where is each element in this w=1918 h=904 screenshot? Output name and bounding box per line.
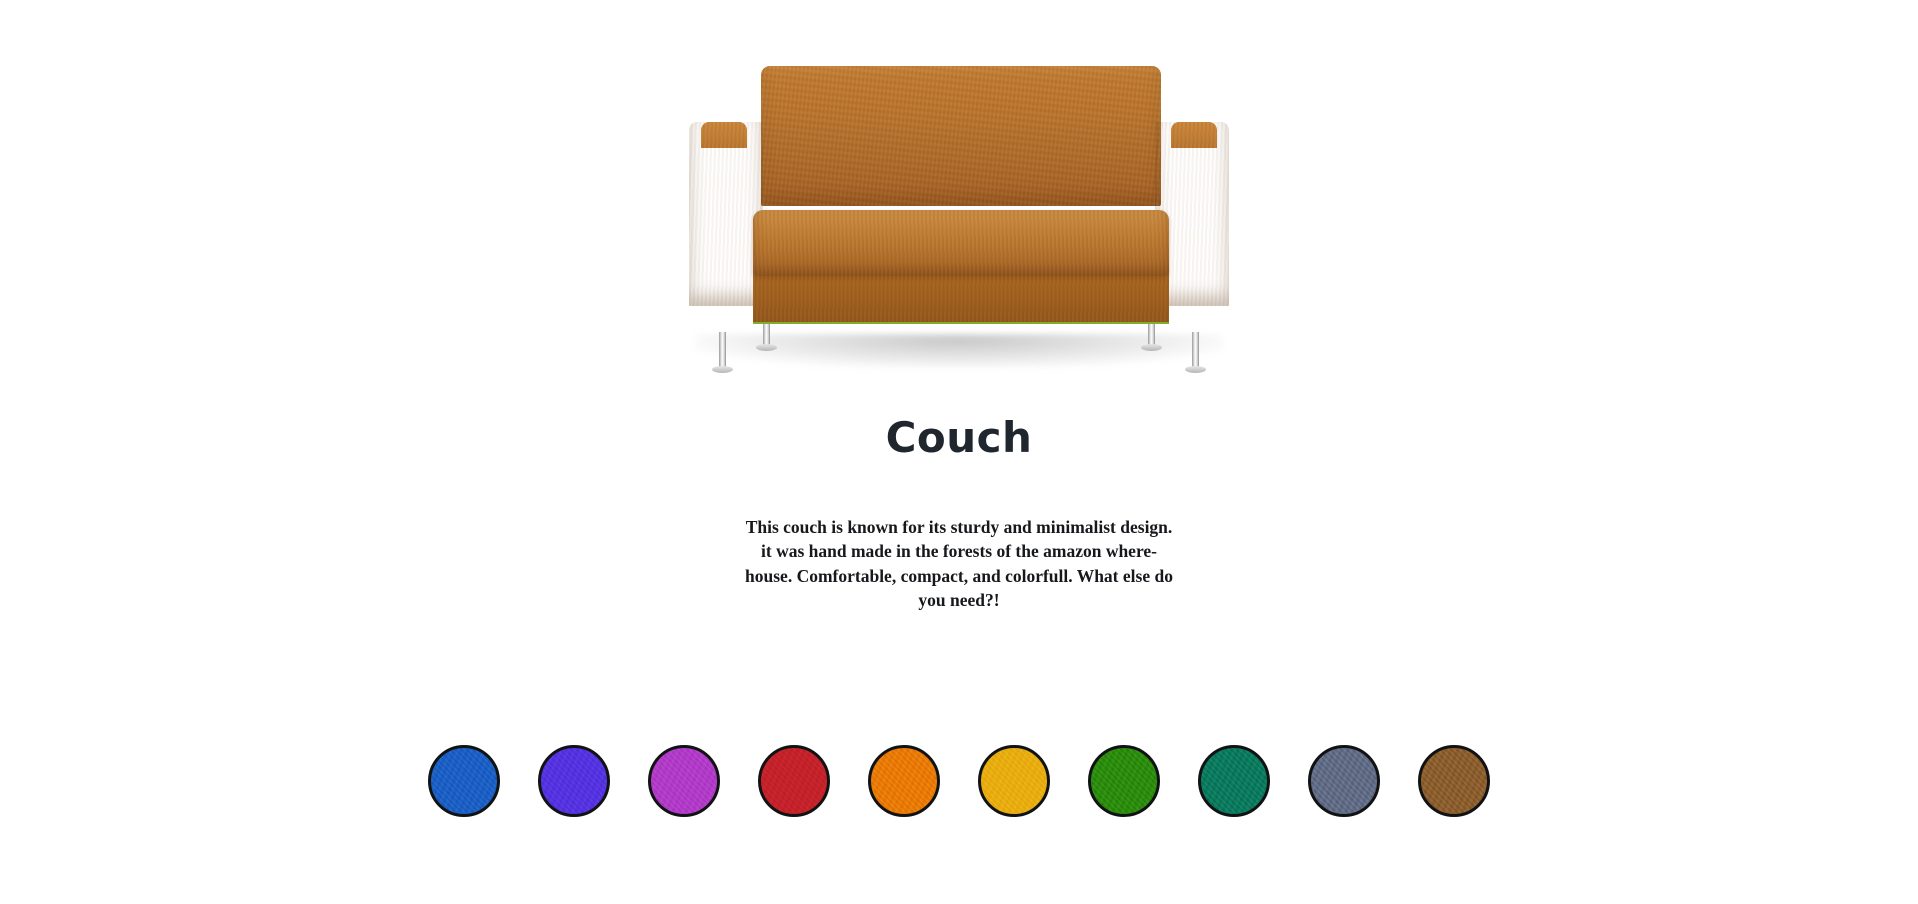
couch-leg-front-right (1192, 332, 1199, 368)
couch-body (689, 60, 1229, 326)
color-swatch-red[interactable] (758, 745, 830, 817)
color-swatch-brown[interactable] (1418, 745, 1490, 817)
color-swatch-row (0, 745, 1918, 817)
color-swatch-green[interactable] (1088, 745, 1160, 817)
page-title: Couch (0, 413, 1918, 462)
color-swatch-violet[interactable] (538, 745, 610, 817)
color-swatch-orange[interactable] (868, 745, 940, 817)
product-image-container (0, 60, 1918, 380)
couch-image[interactable] (689, 60, 1229, 370)
color-swatch-gold[interactable] (978, 745, 1050, 817)
color-swatch-slate[interactable] (1308, 745, 1380, 817)
color-swatch-orchid[interactable] (648, 745, 720, 817)
color-swatch-blue[interactable] (428, 745, 500, 817)
product-page: Couch This couch is known for its sturdy… (0, 0, 1918, 904)
couch-shadow (695, 334, 1223, 368)
product-description: This couch is known for its sturdy and m… (744, 515, 1174, 613)
couch-backrest (761, 66, 1161, 206)
color-swatch-teal[interactable] (1198, 745, 1270, 817)
couch-leg-front-left (719, 332, 726, 368)
couch-seat-cushion (753, 210, 1169, 276)
couch-arm-left (689, 122, 763, 306)
